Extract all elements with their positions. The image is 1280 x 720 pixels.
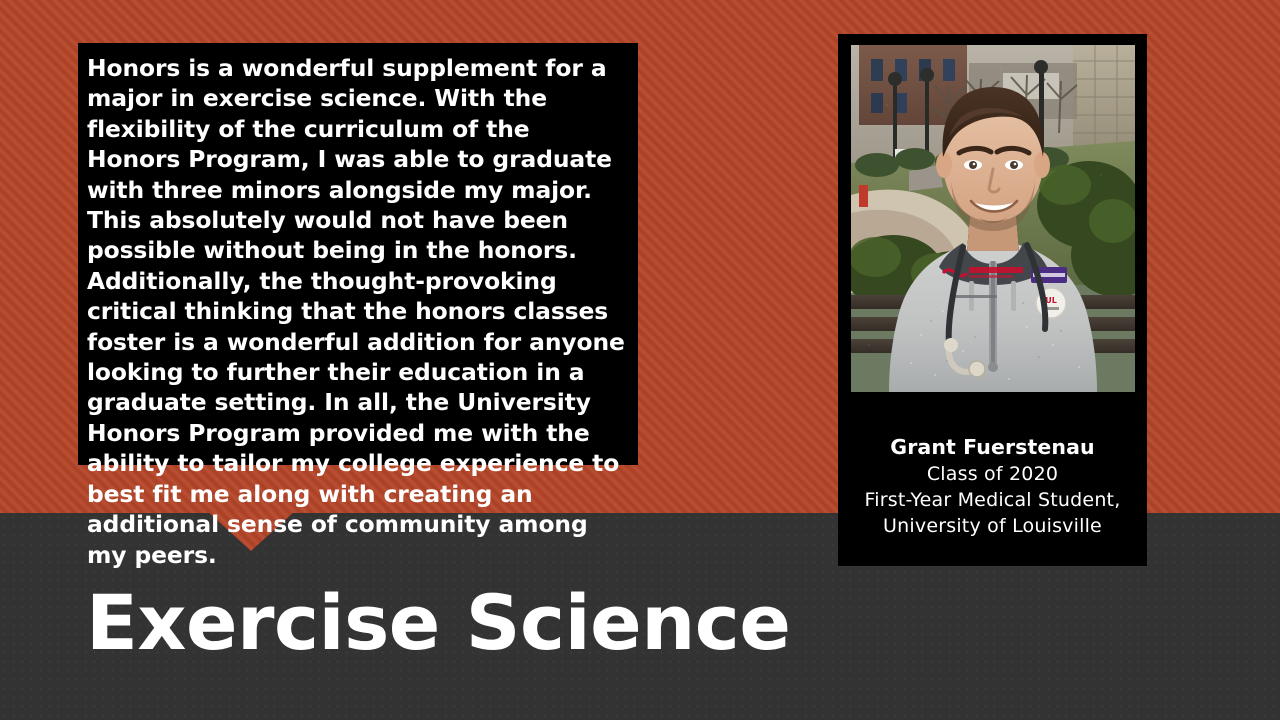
student-photo: UL [851,45,1135,392]
student-caption: Grant Fuerstenau Class of 2020 First-Yea… [838,434,1147,539]
presentation-slide: Honors is a wonderful supplement for a m… [0,0,1280,720]
student-name: Grant Fuerstenau [838,434,1147,461]
student-class-year: Class of 2020 [838,461,1147,487]
page-title: Exercise Science [86,577,790,669]
testimonial-quote-text: Honors is a wonderful supplement for a m… [87,53,625,570]
student-role-line-1: First-Year Medical Student, [838,487,1147,513]
testimonial-quote-box: Honors is a wonderful supplement for a m… [78,43,638,465]
student-profile-card: UL [838,34,1147,566]
student-role-line-2: University of Louisville [838,513,1147,539]
